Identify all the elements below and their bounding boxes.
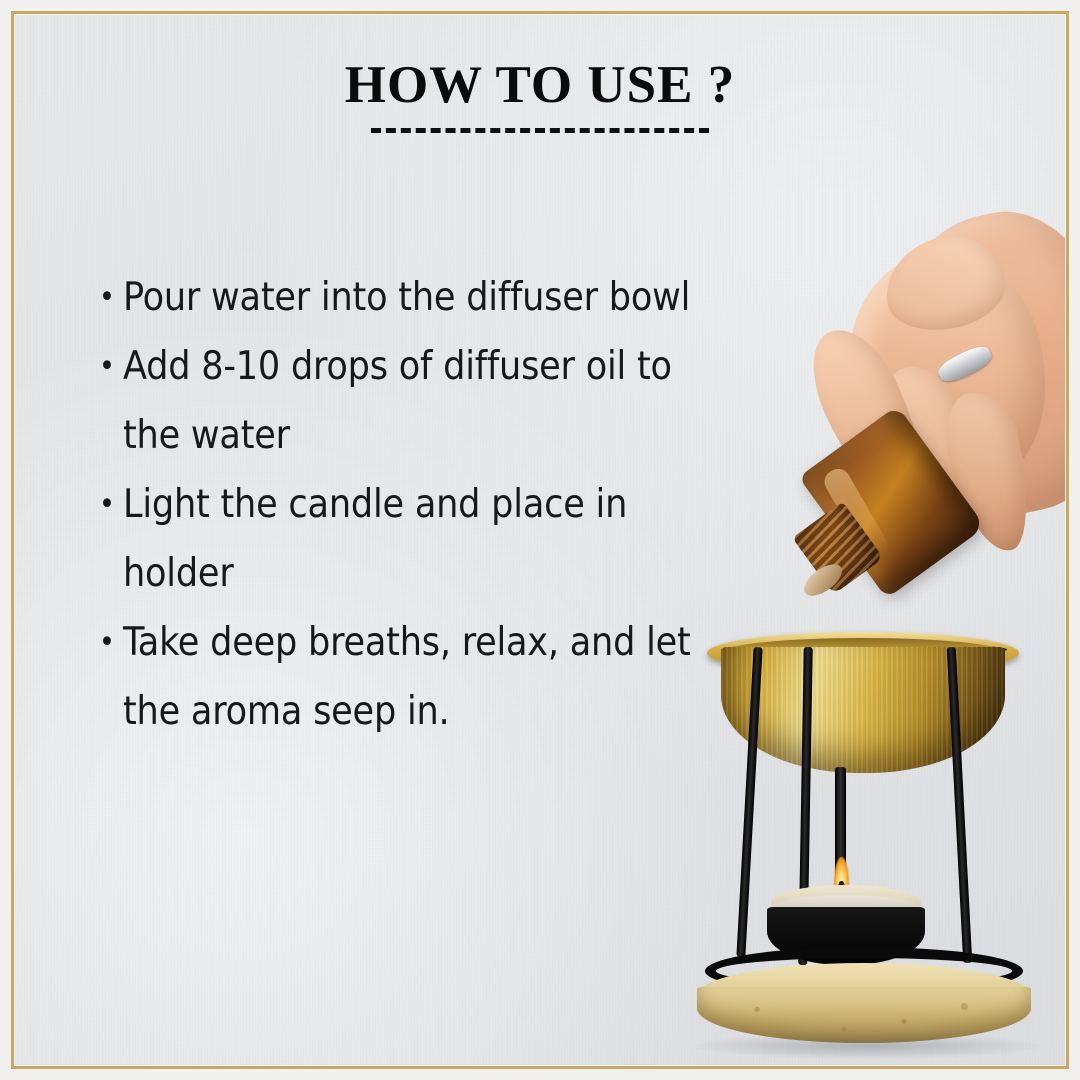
title-dashed-rule (371, 128, 709, 133)
list-item: • Add 8-10 drops of diffuser oil to the … (99, 332, 739, 470)
bullet-icon: • (99, 608, 123, 677)
page-title: HOW TO USE ? (15, 59, 1065, 112)
list-item: • Light the candle and place in holder (99, 470, 739, 608)
list-item-label: Add 8-10 drops of diffuser oil to the wa… (123, 332, 739, 470)
instruction-list: • Pour water into the diffuser bowl • Ad… (99, 263, 739, 746)
bullet-icon: • (99, 332, 123, 401)
list-item-label: Take deep breaths, relax, and let the ar… (123, 608, 739, 746)
brass-bowl (721, 647, 1005, 773)
bullet-icon: • (99, 470, 123, 539)
list-item: • Pour water into the diffuser bowl (99, 263, 739, 332)
poster-canvas: HOW TO USE ? • Pour water into the diffu… (0, 0, 1080, 1080)
list-item-label: Light the candle and place in holder (123, 470, 739, 608)
bullet-icon: • (99, 263, 123, 332)
bowl-brushed-texture (721, 647, 1005, 773)
heading-block: HOW TO USE ? (15, 59, 1065, 133)
product-shadow (693, 1033, 1039, 1059)
content-panel: HOW TO USE ? • Pour water into the diffu… (15, 15, 1065, 1065)
list-item-label: Pour water into the diffuser bowl (123, 263, 739, 332)
list-item: • Take deep breaths, relax, and let the … (99, 608, 739, 746)
